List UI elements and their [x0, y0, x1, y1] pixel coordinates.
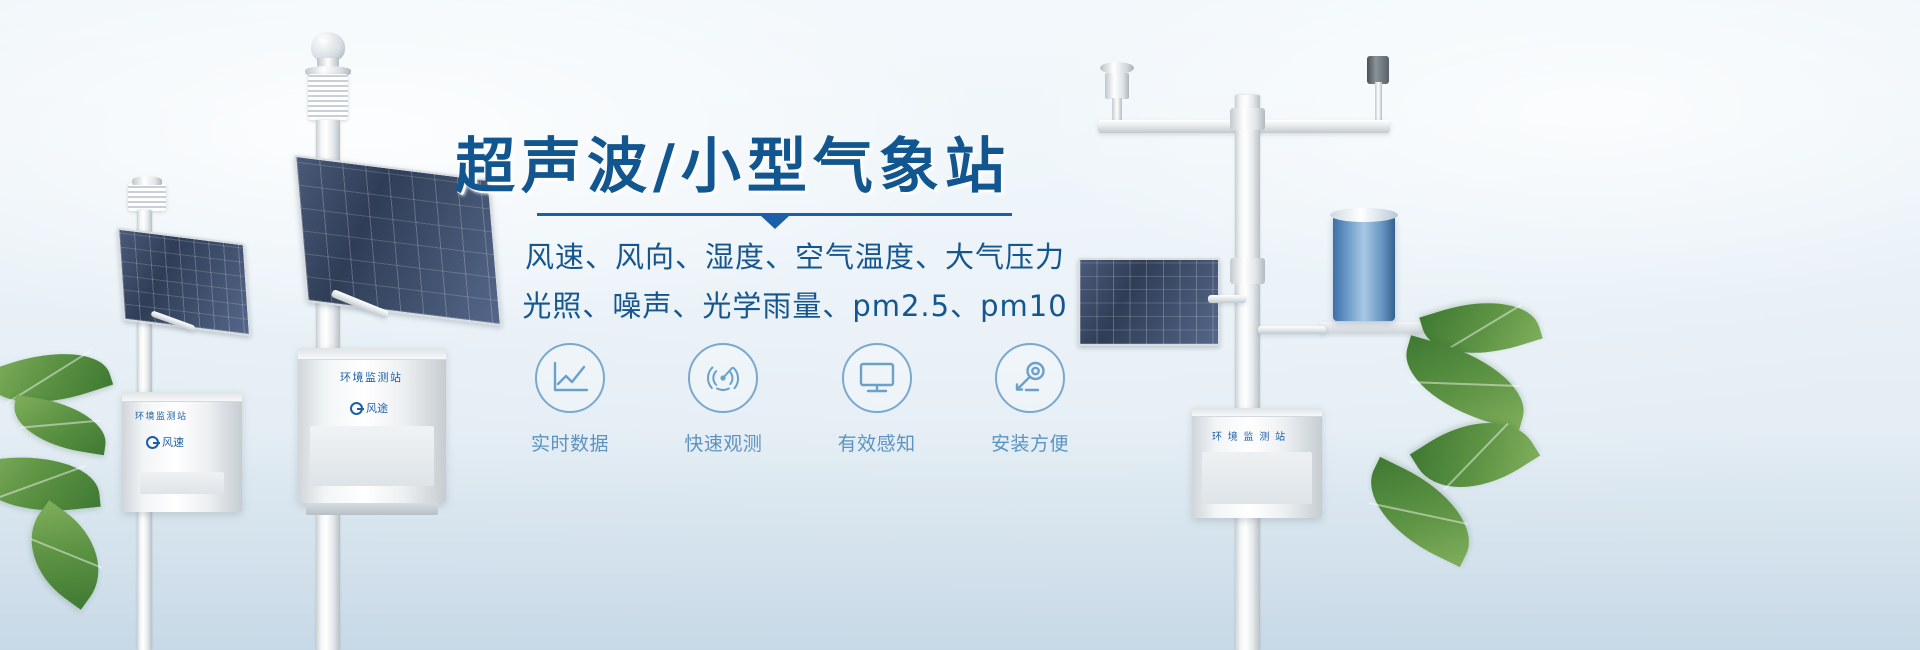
cabinet-brand-text-middle: 风途	[366, 400, 388, 416]
feature-item-easy-install[interactable]: 安装方便	[970, 343, 1090, 456]
cabinet-door-right	[1202, 452, 1312, 504]
equipment-cabinet-left: 环境监测站 风速	[122, 392, 242, 512]
feature-list: 实时数据 快速观测	[510, 343, 1090, 456]
cabinet-lip-right	[1192, 408, 1322, 417]
panel-bracket-right	[1208, 295, 1246, 303]
title-divider	[537, 213, 1012, 216]
banner-content: 超声波/小型气象站 风速、风向、湿度、空气温度、大气压力 光照、噪声、光学雨量、…	[455, 0, 1155, 650]
g-circle-logo-icon	[350, 402, 363, 415]
cabinet-door-middle	[310, 426, 434, 486]
equipment-cabinet-middle: 环境监测站 风途	[298, 348, 446, 503]
temp-humidity-shield-left	[128, 183, 166, 211]
radiation-shield-middle	[308, 74, 348, 120]
radar-signal-icon	[688, 343, 758, 413]
sensor-cap-left	[132, 176, 162, 185]
cabinet-base-middle	[306, 503, 438, 515]
rain-gauge-right	[1333, 215, 1395, 321]
sensor-shelf-right	[1320, 322, 1425, 333]
cabinet-brand-text-left: 风速	[162, 434, 184, 450]
mast-collar-lower-right	[1230, 258, 1265, 284]
mast-right	[1235, 95, 1260, 650]
banner-subtitle-line-2: 光照、噪声、光学雨量、pm2.5、pm10	[455, 283, 1135, 325]
banner-title: 超声波/小型气象站	[455, 118, 1135, 205]
line-chart-icon	[535, 343, 605, 413]
feature-item-effective-sensing[interactable]: 有效感知	[817, 343, 937, 456]
feature-item-realtime-data[interactable]: 实时数据	[510, 343, 630, 456]
feature-label-effective-sensing: 有效感知	[838, 429, 916, 456]
feature-item-fast-observation[interactable]: 快速观测	[663, 343, 783, 456]
mast-collar-upper-right	[1230, 108, 1265, 130]
rain-gauge-rim-right	[1330, 208, 1398, 222]
cabinet-label-middle: 环境监测站	[340, 369, 403, 385]
cabinet-lip-middle	[298, 348, 446, 360]
cabinet-brand-middle: 风途	[350, 400, 388, 416]
wind-vane-stem-right	[1375, 82, 1382, 124]
feature-label-fast-observation: 快速观测	[684, 429, 762, 456]
wrench-icon	[995, 343, 1065, 413]
cabinet-vent-left	[140, 472, 224, 494]
equipment-cabinet-right: 环 境 监 测 站	[1192, 408, 1322, 518]
feature-label-easy-install: 安装方便	[991, 429, 1069, 456]
cabinet-label-left: 环境监测站	[135, 409, 188, 422]
shelf-bracket-right	[1258, 326, 1326, 334]
wind-vane-right	[1367, 56, 1389, 84]
feature-label-realtime-data: 实时数据	[531, 429, 609, 456]
product-banner: 环境监测站 风速 环境监测站 风途	[0, 0, 1920, 650]
down-triangle-icon	[761, 216, 789, 229]
cabinet-label-right: 环 境 监 测 站	[1212, 428, 1287, 443]
solar-panel-left	[117, 228, 251, 337]
cabinet-lip-left	[122, 392, 242, 402]
cabinet-brand-left: 风速	[146, 434, 184, 450]
monitor-screen-icon	[842, 343, 912, 413]
g-circle-logo-icon	[146, 436, 159, 449]
banner-subtitle-line-1: 风速、风向、湿度、空气温度、大气压力	[455, 234, 1135, 276]
